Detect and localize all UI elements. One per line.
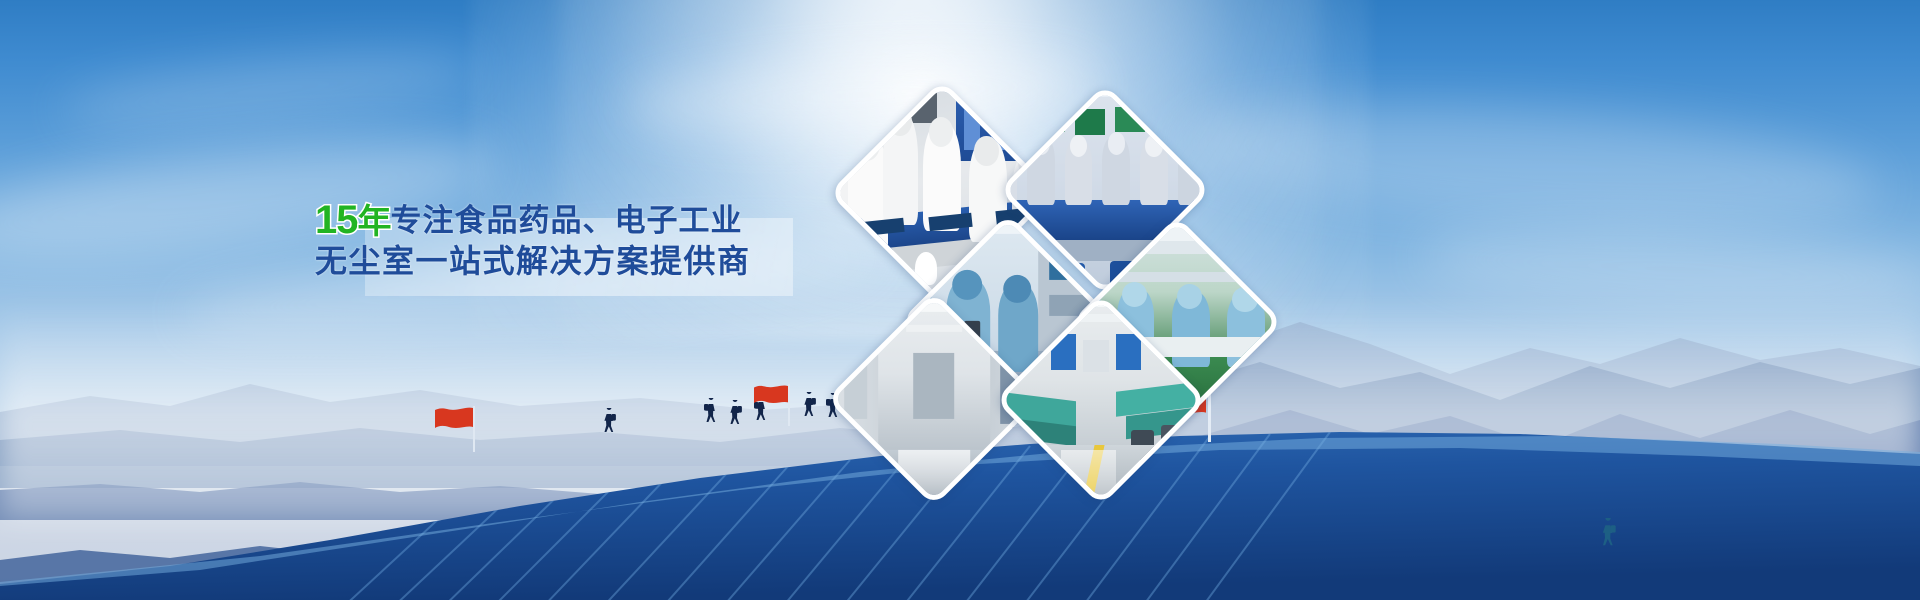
climber-silhouette — [800, 392, 818, 418]
years-unit: 年 — [358, 203, 391, 241]
headline-line-2-text: 无尘室一站式解决方案提供商 — [315, 243, 751, 279]
photo-diamond-grid — [840, 95, 1280, 475]
headline-line-2: 无尘室一站式解决方案提供商 — [315, 241, 855, 282]
years-number: 15 — [315, 198, 358, 242]
headline-block: 15年专注食品药品、电子工业 无尘室一站式解决方案提供商 — [315, 200, 855, 282]
hero-banner: 15年专注食品药品、电子工业 无尘室一站式解决方案提供商 — [0, 0, 1920, 600]
climber-silhouette — [726, 400, 744, 426]
headline-line-1-text: 专注食品药品、电子工业 — [391, 203, 743, 238]
headline-line-1: 15年专注食品药品、电子工业 — [315, 200, 855, 241]
climber-silhouette — [702, 398, 720, 424]
climber-silhouette — [1598, 518, 1618, 548]
climber-silhouette — [600, 408, 618, 434]
